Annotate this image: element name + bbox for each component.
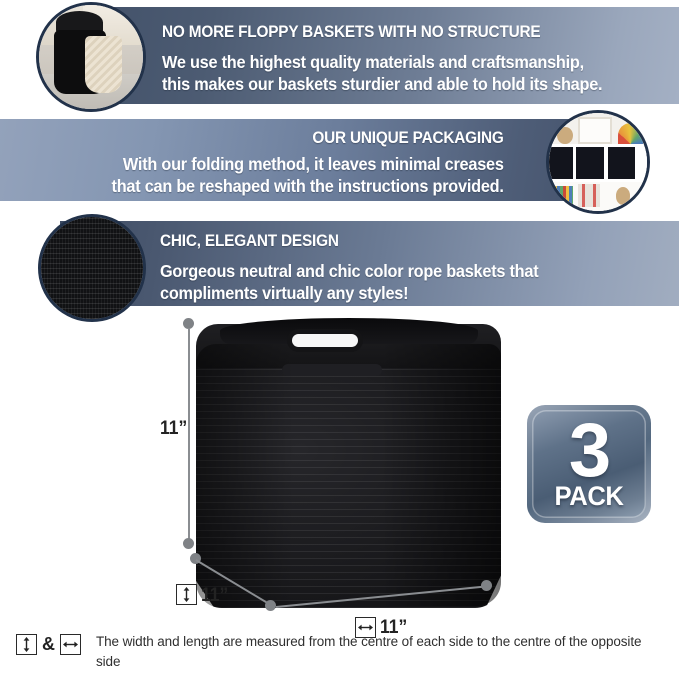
depth-icon-box (176, 584, 197, 605)
rainbow-toy (618, 123, 643, 145)
basket-handle-shadow (282, 364, 382, 376)
books (578, 184, 600, 208)
feature-banner-structure: NO MORE FLOPPY BASKETS WITH NO STRUCTURE… (108, 7, 679, 104)
badge-word: PACK (535, 481, 643, 512)
banner-body: We use the highest quality materials and… (162, 51, 602, 95)
banner-body: With our folding method, it leaves minim… (112, 153, 504, 197)
banner-body-line-2: this makes our baskets sturdier and able… (162, 73, 602, 95)
footnote-line-1: The width and length are measured from t… (96, 632, 666, 671)
infographic-root: NO MORE FLOPPY BASKETS WITH NO STRUCTURE… (0, 0, 679, 673)
banner-title: CHIC, ELEGANT DESIGN (160, 232, 339, 251)
storage-bin (576, 147, 603, 178)
banner-body-line-2: compliments virtually any styles! (160, 282, 538, 304)
height-guide-line (188, 328, 190, 543)
depth-label: 11” (201, 585, 228, 607)
towel (85, 36, 122, 93)
vertical-arrow-icon (181, 587, 192, 602)
basket-right-shading (381, 344, 501, 606)
teddy-bear (557, 127, 573, 145)
storage-bin (608, 147, 635, 178)
banner-body-line-1: With our folding method, it leaves minim… (112, 153, 504, 175)
footnote-height-icon-box (16, 634, 37, 655)
books (551, 186, 573, 208)
feature-banner-packaging: OUR UNIQUE PACKAGING With our folding me… (0, 119, 600, 201)
measurement-footnote: & The width and length are measured from… (16, 632, 666, 672)
vertical-arrow-icon (21, 637, 32, 652)
banner-content: NO MORE FLOPPY BASKETS WITH NO STRUCTURE… (108, 7, 679, 104)
storage-bin (546, 147, 573, 178)
banner-body: Gorgeous neutral and chic color rope bas… (160, 260, 538, 304)
height-label: 11” (160, 418, 187, 440)
footnote-width-icon-box (60, 634, 81, 655)
pack-count-badge: 3 PACK (527, 405, 651, 523)
depth-guide-dot-end (265, 600, 276, 611)
height-guide-dot-bottom (183, 538, 194, 549)
black-basket-with-towel-photo (36, 2, 146, 112)
footnote-text: The width and length are measured from t… (96, 632, 666, 673)
banner-title: NO MORE FLOPPY BASKETS WITH NO STRUCTURE (162, 23, 540, 42)
badge-inner: 3 PACK (532, 410, 646, 518)
rope-texture-closeup-photo (38, 214, 146, 322)
banner-title: OUR UNIQUE PACKAGING (313, 129, 504, 148)
banner-body-line-1: Gorgeous neutral and chic color rope bas… (160, 260, 538, 282)
horizontal-arrow-icon (63, 639, 78, 650)
basket-handle-cutout (292, 334, 358, 347)
footnote-icons: & (16, 634, 81, 655)
picture-frame (578, 117, 611, 144)
black-rope-storage-basket (196, 318, 501, 608)
footnote-ampersand: & (42, 634, 55, 655)
banner-content: CHIC, ELEGANT DESIGN Gorgeous neutral an… (60, 221, 679, 306)
cube-shelf-with-black-bins-photo (546, 110, 650, 214)
banner-body-line-1: We use the highest quality materials and… (162, 51, 602, 73)
banner-content: OUR UNIQUE PACKAGING With our folding me… (0, 119, 600, 201)
feature-banner-design: CHIC, ELEGANT DESIGN Gorgeous neutral an… (60, 221, 679, 306)
rope-texture (41, 217, 143, 319)
photo-scene (39, 5, 143, 109)
banner-body-line-2: that can be reshaped with the instructio… (112, 175, 504, 197)
photo-scene (549, 113, 647, 211)
width-guide-dot-end (481, 580, 492, 591)
